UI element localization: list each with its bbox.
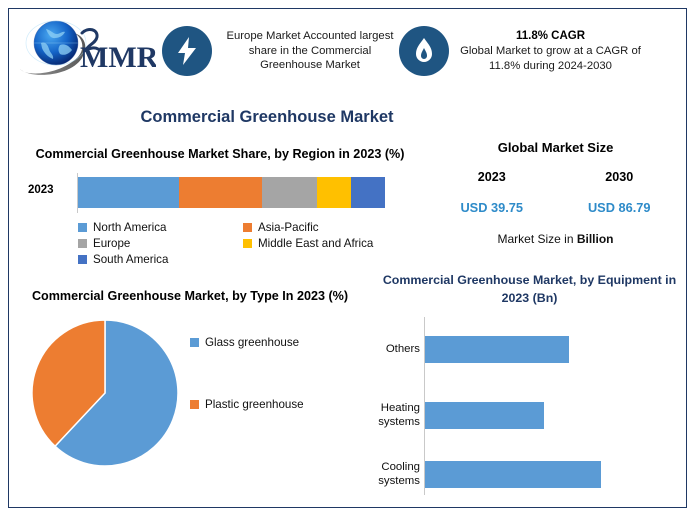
header-stat-cagr-heading: 11.8% CAGR [458,29,643,44]
region-legend-item: North America [78,221,243,234]
globe-logo-svg: MMR [16,17,156,81]
region-segment-4 [351,177,385,208]
type-share-title: Commercial Greenhouse Market, by Type In… [20,288,360,306]
type-share-chart: Commercial Greenhouse Market, by Type In… [20,288,360,476]
header-stat-cagr: 11.8% CAGR Global Market to grow at a CA… [399,26,643,76]
global-market-size-col-2023: 2023 USD 39.75 [428,170,556,215]
global-market-size-col-2030: 2030 USD 86.79 [556,170,684,215]
region-segment-1 [179,177,262,208]
region-legend-item: Asia-Pacific [243,221,408,234]
legend-swatch-icon [190,400,199,409]
gms-year-2030: 2030 [556,170,684,184]
region-legend-label: North America [93,221,166,234]
legend-swatch-icon [78,255,87,264]
region-share-title: Commercial Greenhouse Market Share, by R… [20,146,420,164]
equipment-category-label: Cooling systems [372,460,424,489]
type-legend-item: Glass greenhouse [190,336,355,349]
type-legend-item: Plastic greenhouse [190,398,355,411]
region-share-chart: Commercial Greenhouse Market Share, by R… [20,146,420,269]
region-legend-label: Asia-Pacific [258,221,319,234]
gms-year-2023: 2023 [428,170,556,184]
legend-swatch-icon [243,239,252,248]
header-stat-cagr-body: Global Market to grow at a CAGR of 11.8%… [458,44,643,74]
header-stat-europe-body: Europe Market Accounted largest share in… [221,29,399,74]
region-stacked-bar [78,177,385,208]
type-legend-label: Glass greenhouse [205,336,299,349]
lightning-bolt-icon [162,26,212,76]
gms-value-2023: USD 39.75 [428,200,556,215]
legend-swatch-icon [78,239,87,248]
page-title: Commercial Greenhouse Market [52,108,482,127]
header-stat-europe-text: Europe Market Accounted largest share in… [221,29,399,74]
type-legend: Glass greenhousePlastic greenhouse [190,336,355,411]
flame-icon [399,26,449,76]
gms-footnote-prefix: Market Size in [497,232,576,246]
flame-glyph [411,36,437,66]
equipment-bar [425,402,544,429]
equipment-bar [425,336,569,363]
region-legend-item: Middle East and Africa [243,237,408,250]
region-legend-label: Europe [93,237,130,250]
region-category-label: 2023 [28,184,54,196]
type-pie-svg [32,316,182,471]
region-legend-label: South America [93,253,168,266]
region-legend: North AmericaAsia-PacificEuropeMiddle Ea… [78,221,408,269]
globe-logo: MMR [10,15,158,87]
equipment-row: Others [372,329,687,369]
region-share-plot: 2023 [20,173,420,213]
legend-swatch-icon [190,338,199,347]
equipment-row: Heating systems [372,395,687,435]
legend-swatch-icon [243,223,252,232]
equipment-chart: Commercial Greenhouse Market, by Equipme… [372,272,687,495]
gms-footnote-unit: Billion [577,232,614,246]
header: MMR Europe Market Accounted largest shar… [10,10,685,92]
region-legend-item: South America [78,253,243,266]
gms-value-2030: USD 86.79 [556,200,684,215]
region-segment-2 [262,177,317,208]
global-market-size-title: Global Market Size [428,140,683,155]
region-legend-label: Middle East and Africa [258,237,373,250]
equipment-bar [425,461,601,488]
global-market-size-columns: 2023 USD 39.75 2030 USD 86.79 [428,170,683,215]
region-legend-item: Europe [78,237,243,250]
type-share-plot: Glass greenhousePlastic greenhouse [20,316,360,476]
equipment-category-label: Heating systems [372,401,424,430]
type-legend-label: Plastic greenhouse [205,398,304,411]
global-market-size-panel: Global Market Size 2023 USD 39.75 2030 U… [428,140,683,246]
equipment-plot: OthersHeating systemsCooling systems [372,317,687,495]
equipment-row: Cooling systems [372,454,687,494]
region-segment-0 [78,177,179,208]
lightning-bolt-glyph [174,36,200,66]
header-stat-europe: Europe Market Accounted largest share in… [162,26,399,76]
legend-swatch-icon [78,223,87,232]
equipment-category-label: Others [372,342,424,356]
header-stat-cagr-text: 11.8% CAGR Global Market to grow at a CA… [458,29,643,74]
infographic-canvas: MMR Europe Market Accounted largest shar… [0,0,697,520]
equipment-title: Commercial Greenhouse Market, by Equipme… [372,272,687,307]
gms-footnote: Market Size in Billion [428,232,683,246]
region-segment-3 [317,177,351,208]
